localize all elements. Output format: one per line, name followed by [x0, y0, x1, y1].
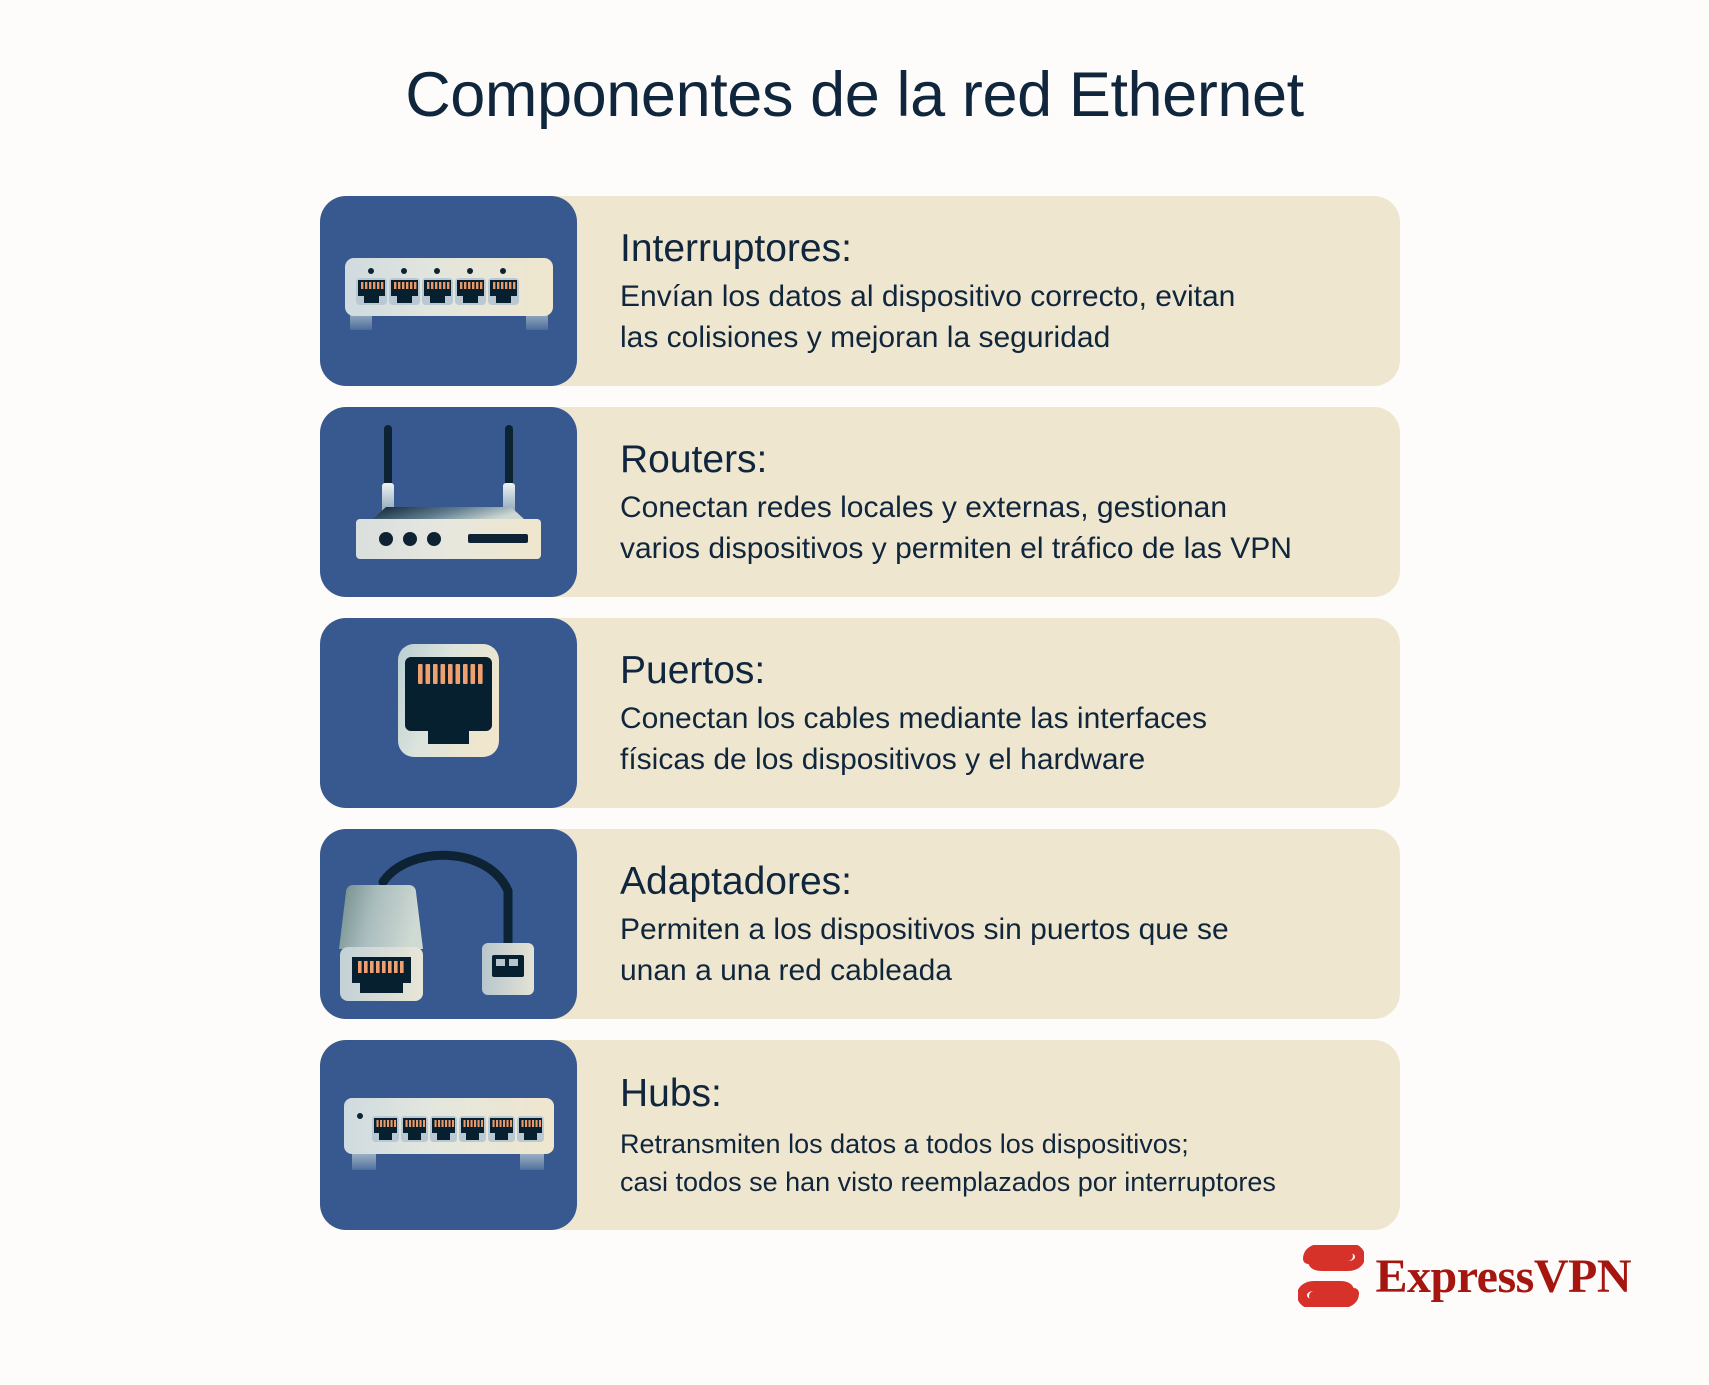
item-description: Envían los datos al dispositivo correcto…	[620, 276, 1390, 358]
expressvpn-logo: ExpressVPN	[1298, 1245, 1631, 1307]
icon-tile	[320, 618, 577, 808]
icon-tile	[320, 829, 577, 1019]
component-list: Interruptores: Envían los datos al dispo…	[320, 196, 1400, 1251]
item-description: Permiten a los dispositivos sin puertos …	[620, 909, 1390, 991]
expressvpn-logo-text: ExpressVPN	[1376, 1249, 1631, 1304]
icon-tile	[320, 407, 577, 597]
list-item: Hubs: Retransmiten los datos a todos los…	[320, 1040, 1400, 1230]
item-description: Conectan redes locales y externas, gesti…	[620, 487, 1390, 569]
network-hub-icon	[320, 1040, 577, 1230]
item-description: Conectan los cables mediante las interfa…	[620, 698, 1390, 780]
item-text: Hubs: Retransmiten los datos a todos los…	[620, 1040, 1390, 1230]
list-item: Routers: Conectan redes locales y extern…	[320, 407, 1400, 597]
list-item: Interruptores: Envían los datos al dispo…	[320, 196, 1400, 386]
icon-tile	[320, 196, 577, 386]
item-heading: Routers:	[620, 435, 1390, 485]
usb-ethernet-adapter-icon	[320, 829, 577, 1019]
item-description: Retransmiten los datos a todos los dispo…	[620, 1125, 1390, 1201]
item-heading: Interruptores:	[620, 224, 1390, 274]
item-heading: Puertos:	[620, 646, 1390, 696]
item-text: Interruptores: Envían los datos al dispo…	[620, 196, 1390, 386]
list-item: Adaptadores: Permiten a los dispositivos…	[320, 829, 1400, 1019]
list-item: Puertos: Conectan los cables mediante la…	[320, 618, 1400, 808]
item-heading: Hubs:	[620, 1069, 1390, 1119]
infographic-page: Componentes de la red Ethernet	[0, 0, 1709, 1385]
wifi-router-icon	[320, 407, 577, 597]
item-text: Adaptadores: Permiten a los dispositivos…	[620, 829, 1390, 1019]
item-text: Routers: Conectan redes locales y extern…	[620, 407, 1390, 597]
page-title: Componentes de la red Ethernet	[0, 57, 1709, 133]
ethernet-port-icon	[320, 618, 577, 808]
item-text: Puertos: Conectan los cables mediante la…	[620, 618, 1390, 808]
expressvpn-logo-mark	[1298, 1245, 1364, 1307]
item-heading: Adaptadores:	[620, 857, 1390, 907]
network-switch-icon	[320, 196, 577, 386]
icon-tile	[320, 1040, 577, 1230]
